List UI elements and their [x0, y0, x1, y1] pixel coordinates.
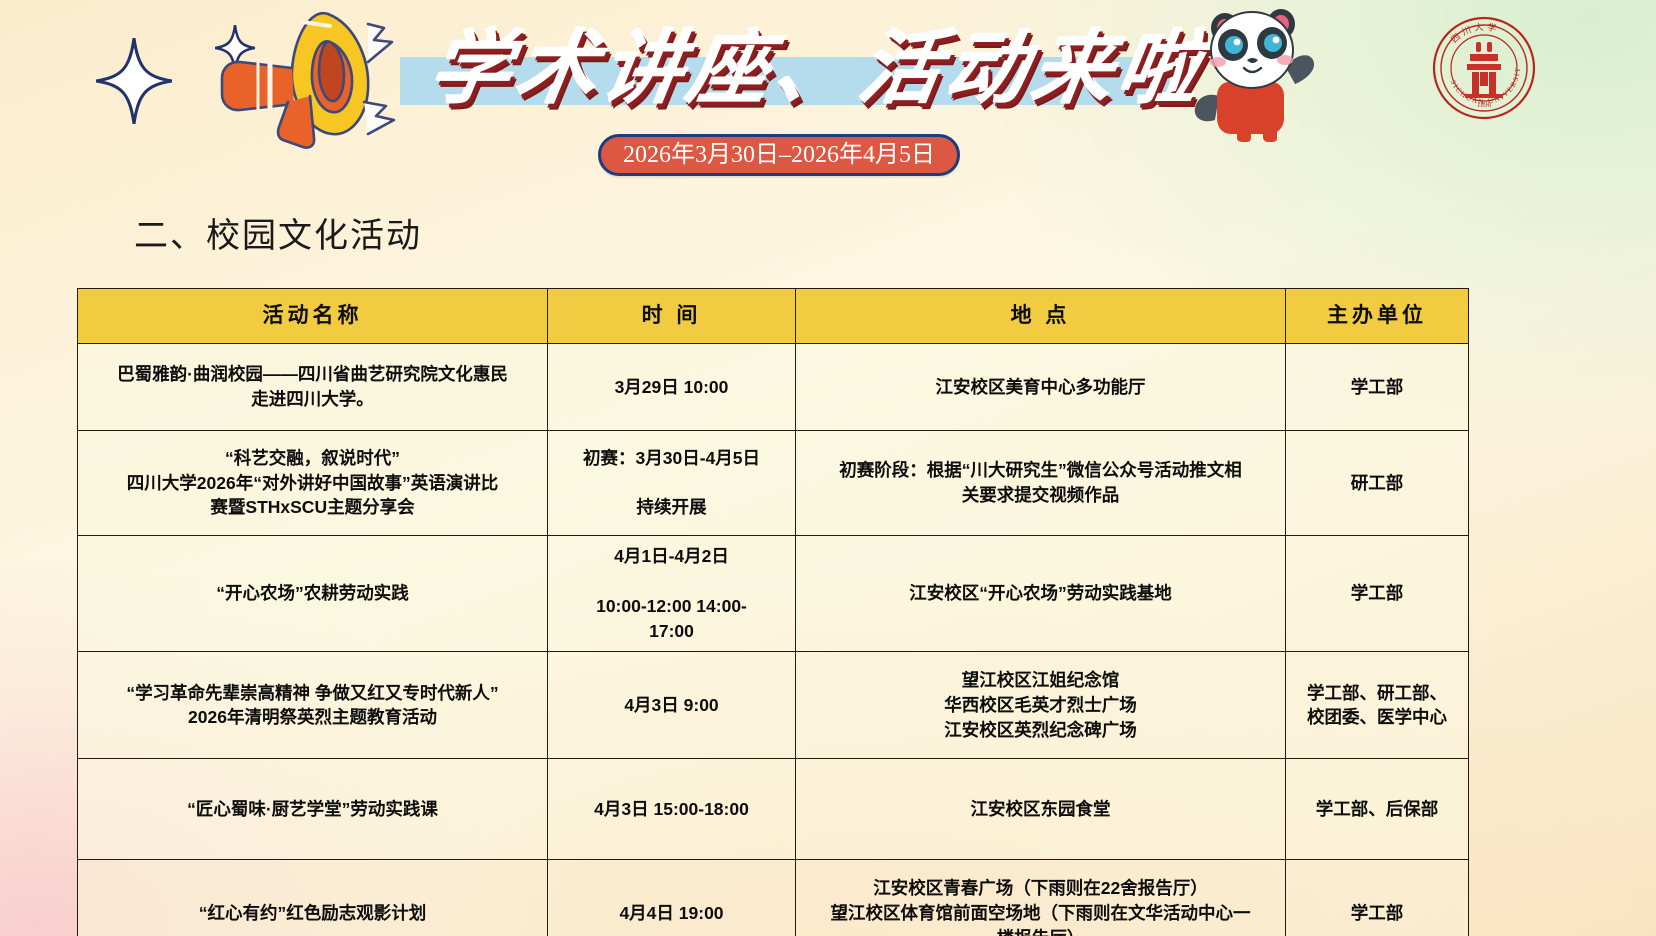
column-header-time: 时 间 [548, 289, 796, 344]
activity-place: 江安校区东园食堂 [796, 759, 1286, 860]
sichuan-university-logo: 四川大学 SICHUAN UNIVERSITY 1896 [1432, 16, 1536, 120]
logo-cn-text: 四川大学 [1449, 21, 1500, 45]
activity-org: 学工部 [1286, 860, 1469, 936]
activity-place: 江安校区美育中心多功能厅 [796, 344, 1286, 431]
activity-time: 4月4日 19:00 [548, 860, 796, 936]
poster-canvas: 学术讲座、活动来啦 2026年3月30日–2026年4月5日 [0, 0, 1656, 936]
sparkle-star-icon [96, 38, 172, 124]
date-range-badge: 2026年3月30日–2026年4月5日 [598, 134, 960, 176]
activity-name: “科艺交融，叙说时代” 四川大学2026年“对外讲好中国故事”英语演讲比 赛暨S… [78, 431, 548, 536]
activity-org: 学工部 [1286, 344, 1469, 431]
activity-place: 望江校区江姐纪念馆 华西校区毛英才烈士广场 江安校区英烈纪念碑广场 [796, 652, 1286, 759]
activity-place: 江安校区“开心农场”劳动实践基地 [796, 536, 1286, 652]
megaphone-icon [178, 6, 408, 151]
activity-org: 研工部 [1286, 431, 1469, 536]
column-header-org: 主办单位 [1286, 289, 1469, 344]
table-row: “科艺交融，叙说时代” 四川大学2026年“对外讲好中国故事”英语演讲比 赛暨S… [78, 431, 1469, 536]
table-row: “开心农场”农耕劳动实践 4月1日-4月2日 10:00-12:00 14:00… [78, 536, 1469, 652]
activities-table-container: 活动名称 时 间 地 点 主办单位 巴蜀雅韵·曲润校园——四川省曲艺研究院文化惠… [77, 288, 1468, 936]
activity-name: “学习革命先辈崇高精神 争做又红又专时代新人” 2026年清明祭英烈主题教育活动 [78, 652, 548, 759]
table-row: “学习革命先辈崇高精神 争做又红又专时代新人” 2026年清明祭英烈主题教育活动… [78, 652, 1469, 759]
activity-time: 4月3日 15:00-18:00 [548, 759, 796, 860]
activity-org: 学工部、研工部、 校团委、医学中心 [1286, 652, 1469, 759]
table-row: “匠心蜀味·厨艺学堂”劳动实践课 4月3日 15:00-18:00 江安校区东园… [78, 759, 1469, 860]
column-header-name: 活动名称 [78, 289, 548, 344]
activity-org: 学工部、后保部 [1286, 759, 1469, 860]
logo-year-text: 1896 [1477, 101, 1492, 109]
activities-table: 活动名称 时 间 地 点 主办单位 巴蜀雅韵·曲润校园——四川省曲艺研究院文化惠… [77, 288, 1469, 936]
activity-time: 3月29日 10:00 [548, 344, 796, 431]
activity-name: “开心农场”农耕劳动实践 [78, 536, 548, 652]
activity-name: 巴蜀雅韵·曲润校园——四川省曲艺研究院文化惠民 走进四川大学。 [78, 344, 548, 431]
table-header-row: 活动名称 时 间 地 点 主办单位 [78, 289, 1469, 344]
activity-org: 学工部 [1286, 536, 1469, 652]
sparkle-star-small-icon [215, 25, 255, 71]
page-section-heading: 二、校园文化活动 [134, 208, 422, 257]
panda-mascot-icon [1185, 0, 1315, 142]
activity-name: “红心有约”红色励志观影计划 [78, 860, 548, 936]
activity-place: 初赛阶段：根据“川大研究生”微信公众号活动推文相 关要求提交视频作品 [796, 431, 1286, 536]
table-row: “红心有约”红色励志观影计划 4月4日 19:00 江安校区青春广场（下雨则在2… [78, 860, 1469, 936]
activity-time: 初赛：3月30日-4月5日 持续开展 [548, 431, 796, 536]
activity-time: 4月3日 9:00 [548, 652, 796, 759]
svg-text:四川大学: 四川大学 [1449, 21, 1500, 45]
page-title: 学术讲座、活动来啦 [421, 18, 1178, 128]
activity-place: 江安校区青春广场（下雨则在22舍报告厅） 望江校区体育馆前面空场地（下雨则在文华… [796, 860, 1286, 936]
column-header-place: 地 点 [796, 289, 1286, 344]
activity-name: “匠心蜀味·厨艺学堂”劳动实践课 [78, 759, 548, 860]
activity-time: 4月1日-4月2日 10:00-12:00 14:00- 17:00 [548, 536, 796, 652]
table-row: 巴蜀雅韵·曲润校园——四川省曲艺研究院文化惠民 走进四川大学。 3月29日 10… [78, 344, 1469, 431]
